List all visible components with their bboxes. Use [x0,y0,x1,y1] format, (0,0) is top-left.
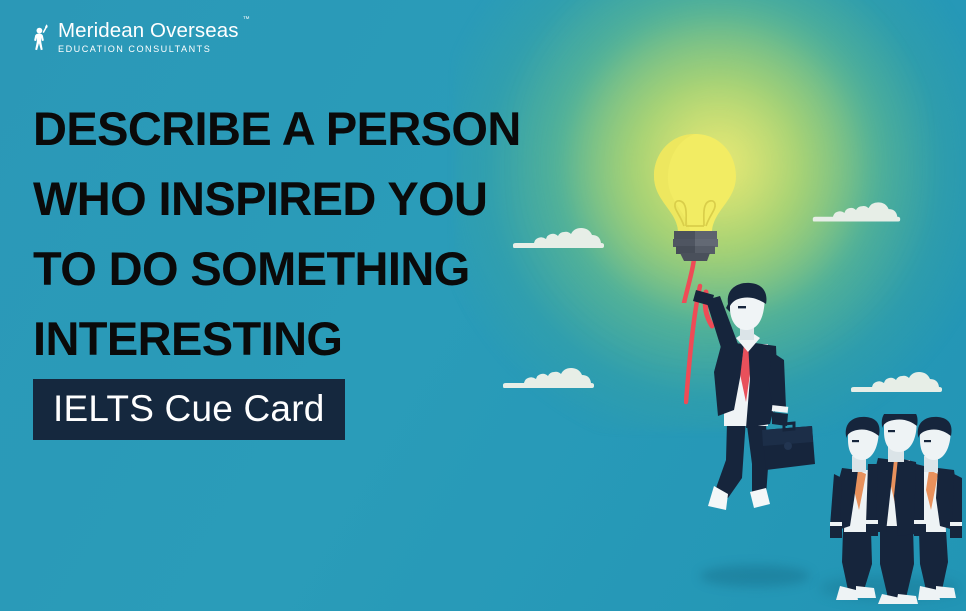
logo-name: Meridean Overseas [58,20,239,42]
logo-text-block: Meridean Overseas ™ EDUCATION CONSULTANT… [58,20,239,54]
headline-line-3: TO DO SOMETHING [33,234,653,304]
headline-line-1: DESCRIBE A PERSON [33,94,653,164]
floating-man-shadow [700,565,810,587]
headline-line-2: WHO INSPIRED YOU [33,164,653,234]
brand-logo[interactable]: Meridean Overseas ™ EDUCATION CONSULTANT… [30,20,239,56]
logo-tagline: EDUCATION CONSULTANTS [58,44,239,54]
page-title: DESCRIBE A PERSON WHO INSPIRED YOU TO DO… [33,94,653,374]
ielts-cue-card-banner: Meridean Overseas ™ EDUCATION CONSULTANT… [0,0,966,611]
person-with-torch-icon [30,22,52,56]
trademark-symbol: ™ [243,16,250,23]
group-shadow [820,576,960,600]
category-badge: IELTS Cue Card [33,379,345,440]
headline-line-4: INTERESTING [33,304,653,374]
